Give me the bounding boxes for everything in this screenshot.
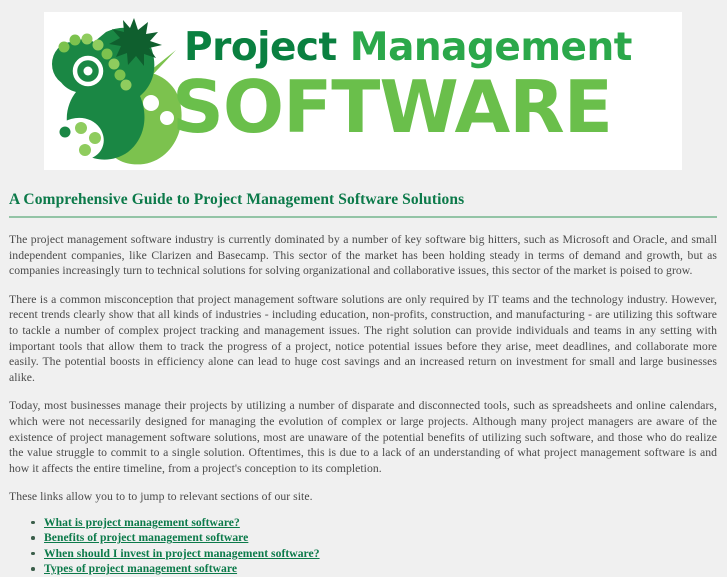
wordmark-software: SOFTWARE [172,66,670,148]
section-link-list: What is project management software? Ben… [9,515,717,577]
article-content: A Comprehensive Guide to Project Managem… [9,190,717,577]
list-item: Benefits of project management software [44,530,717,546]
site-logo-banner: Project Management SOFTWARE [44,12,682,170]
list-item: When should I invest in project manageme… [44,546,717,562]
page-title: A Comprehensive Guide to Project Managem… [9,190,717,218]
link-what-is-project-management-software[interactable]: What is project management software? [44,516,240,529]
paragraph-1: The project management software industry… [9,232,717,279]
paragraph-2: There is a common misconception that pro… [9,292,717,386]
list-item: Types of project management software [44,561,717,577]
link-types-of-project-management-software[interactable]: Types of project management software [44,562,237,575]
list-item: What is project management software? [44,515,717,531]
paragraph-3: Today, most businesses manage their proj… [9,398,717,476]
wordmark-management: Management [350,25,632,70]
link-when-should-i-invest[interactable]: When should I invest in project manageme… [44,547,320,560]
link-benefits-of-project-management-software[interactable]: Benefits of project management software [44,531,248,544]
logo-wordmark: Project Management SOFTWARE [184,12,682,170]
wordmark-project: Project [184,25,337,70]
page-root: Project Management SOFTWARE A Comprehens… [0,0,727,545]
paragraph-links-intro: These links allow you to to jump to rele… [9,489,717,505]
abstract-green-blob-logo-icon [48,14,188,168]
